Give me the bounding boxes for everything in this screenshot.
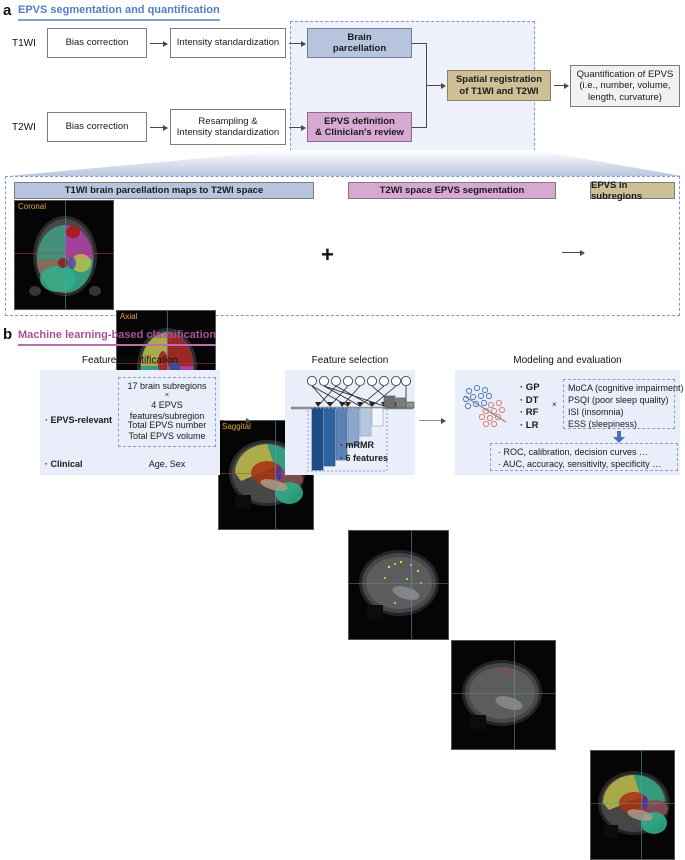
panel-a-letter: a [3,3,11,18]
model-dt: · DT [520,395,540,408]
arrow-t1-1 [150,43,167,44]
down-arrow-icon [612,431,626,443]
brain-epvs-seg-1[interactable] [348,530,449,640]
stage2-note-mrmr: · mRMR [340,440,374,450]
box-epvs-definition[interactable]: EPVS definition & Clinician's review [307,112,412,142]
scatter-classifier-icon [460,382,515,430]
target-ess: ESS (sleepiness) [568,418,684,430]
stage3-times-symbol: × [552,400,557,409]
quantification-line1: Quantification of EPVS [577,69,674,81]
arrow-t2-2 [289,127,305,128]
quantification-line3: length, curvature) [588,92,662,104]
clinical-value: Age, Sex [119,459,215,470]
spatial-registration-line2: of T1WI and T2WI [459,86,538,98]
result-auc: · AUC, accuracy, sensitivity, specificit… [498,458,661,470]
modality-label-t2wi: T2WI [12,122,36,133]
epvs-definition-line1: EPVS definition [324,116,395,128]
resampling-text-line2: Intensity standardization [177,127,279,139]
spatial-registration-line1: Spatial registration [456,74,542,86]
brain-view-coronal[interactable]: Coronal [14,200,114,310]
box-brain-parcellation[interactable]: Brain parcellation [307,28,412,58]
view-label-coronal: Coronal [18,202,46,211]
gallery-section1-title: T1WI brain parcellation maps to T2WI spa… [14,182,314,199]
view-label-saggital: Saggital [222,422,251,431]
feature-line-total-number: Total EPVS number [119,420,215,431]
arrow-t2-1 [150,127,167,128]
label-clinical: · Clinical [45,459,83,469]
arrow-t1-2 [289,43,305,44]
results-list: · ROC, calibration, decision curves … · … [498,446,661,470]
plus-symbol: + [321,244,334,266]
arrow-to-registration [426,85,445,86]
box-bias-correction-t1[interactable]: Bias correction [47,28,147,58]
stage1-heading: Feature quantification [40,355,220,366]
merge-line-bottom [412,127,426,128]
panel-b-letter: b [3,327,12,342]
target-psqi: PSQI (poor sleep quality) [568,394,684,406]
brain-parcellation-line2: parcellation [333,43,386,55]
view-label-axial: Axial [120,312,137,321]
brain-parcellation-line1: Brain [347,32,371,44]
model-list: · GP · DT · RF · LR [520,382,540,432]
epvs-definition-line2: & Clinician's review [315,127,404,139]
box-bias-correction-t2[interactable]: Bias correction [47,112,147,142]
stage3-heading: Modeling and evaluation [455,355,680,366]
feature-line-per-subregion: 4 EPVS features/subregion [117,400,217,422]
quantification-line2: (i.e., number, volume, [579,80,670,92]
stage2-note-features: · 6 features [340,453,388,463]
target-moca: MoCA (cognitive impairment) [568,382,684,394]
stage2-heading: Feature selection [285,355,415,366]
box-spatial-registration[interactable]: Spatial registration of T1WI and T2WI [447,70,551,101]
arrow-to-quantification [554,85,568,86]
model-rf: · RF [520,407,540,420]
panel-a-title: EPVS segmentation and quantification [18,5,220,21]
result-roc: · ROC, calibration, decision curves … [498,446,661,458]
brain-epvs-subregions[interactable] [590,750,675,860]
target-list: MoCA (cognitive impairment) PSQI (poor s… [568,382,684,430]
label-epvs-relevant: · EPVS-relevant [45,415,112,425]
box-intensity-standardization-t1[interactable]: Intensity standardization [170,28,286,58]
modality-label-t1wi: T1WI [12,38,36,49]
gallery-section3-title: EPVS in subregions [590,182,675,199]
model-gp: · GP [520,382,540,395]
feature-line-total-volume: Total EPVS volume [119,431,215,442]
resampling-text-line1: Resampling & [198,116,257,128]
gallery-section2-title: T2WI space EPVS segmentation [348,182,556,199]
feature-times-symbol: × [119,392,215,399]
merge-line-top [412,43,426,44]
feature-line-subregions: 17 brain subregions [119,381,215,392]
arrow-stage1-to-stage2 [224,420,250,421]
arrow-to-subregions [562,252,584,253]
panel-b-title: Machine learning-based classification [18,330,216,346]
target-isi: ISI (insomnia) [568,406,684,418]
model-lr: · LR [520,420,540,433]
arrow-stage2-to-stage3 [419,420,445,421]
box-quantification-epvs[interactable]: Quantification of EPVS (i.e., number, vo… [570,65,680,107]
brain-epvs-seg-2[interactable] [451,640,556,750]
box-resampling-intensity-t2[interactable]: Resampling & Intensity standardization [170,109,286,145]
